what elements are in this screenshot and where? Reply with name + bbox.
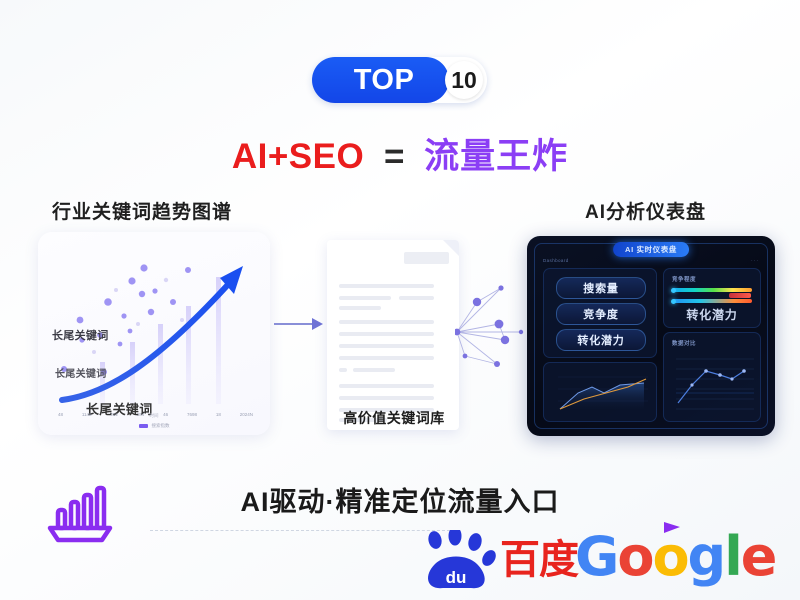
metric-pill-conversion-potential[interactable]: 转化潜力: [556, 329, 646, 351]
doc-text-line: [339, 306, 381, 310]
gauge-bar-rainbow: [672, 288, 752, 292]
footer-divider: [150, 530, 450, 531]
google-wordmark: Google: [575, 528, 775, 586]
area-panel-chart: [544, 363, 656, 421]
headline-right: 流量王炸: [424, 137, 568, 176]
baidu-wordmark: 百度: [500, 538, 578, 582]
doc-header-block: [404, 252, 449, 264]
doc-text-line: [339, 332, 434, 336]
doc-text-line: [339, 296, 391, 300]
node-network-graphic: [455, 280, 535, 385]
legend-label: 搜索指数: [152, 423, 170, 429]
footer-tagline: AI驱动·精准定位流量入口: [0, 480, 800, 519]
metric-pill-search-volume[interactable]: 搜索量: [556, 277, 646, 299]
google-letter: g: [688, 525, 725, 588]
doc-text-line: [353, 368, 395, 372]
google-letter: l: [724, 525, 741, 588]
google-letter: G: [575, 525, 617, 588]
gauge-overlay-label: 转化潜力: [664, 306, 760, 323]
headline-left: AI+SEO: [232, 137, 364, 176]
section-title-dashboard: AI分析仪表盘: [585, 197, 706, 224]
doc-text-line: [399, 296, 434, 300]
dashboard-subtitle: Dashboard: [543, 258, 569, 263]
dashboard-gauge-panel: 竞争程度 转化潜力: [663, 268, 761, 328]
badge-word: TOP: [334, 63, 434, 97]
trend-legend: 搜索指数: [38, 423, 270, 429]
keyword-label-1: 长尾关键词: [52, 327, 109, 343]
baidu-paw-icon: du: [415, 530, 505, 592]
doc-text-line: [339, 396, 434, 400]
gauge-bar-warm: [672, 299, 752, 303]
dashboard-menu-icon[interactable]: ···: [751, 258, 759, 264]
trend-x-axis-label: 时间: [38, 413, 270, 419]
legend-swatch-icon: [139, 424, 148, 428]
gauge-handle-icon[interactable]: [671, 288, 676, 293]
page-title: AI+SEO = 流量王炸: [0, 128, 800, 179]
gauge-alert-tag: [729, 293, 751, 298]
doc-text-line: [339, 320, 434, 324]
doc-text-line: [339, 356, 434, 360]
dashboard-trend-panel: 数据对比: [663, 332, 761, 422]
keyword-document-card: [327, 240, 459, 430]
keyword-trend-card: 长尾关键词 长尾关键词 长尾关键词 48 1146 202 184 46 769…: [38, 232, 270, 435]
google-letter: e: [741, 525, 776, 588]
section-title-trend: 行业关键词趋势图谱: [52, 197, 232, 224]
google-letter: o: [652, 525, 687, 588]
gauge-panel-title: 竞争程度: [672, 275, 696, 283]
keyword-label-2: 长尾关键词: [55, 365, 107, 380]
dashboard-header-pill: AI 实时仪表盘: [613, 242, 689, 257]
doc-text-line: [339, 368, 347, 372]
top-rank-badge: TOP 10: [312, 57, 487, 103]
headline-equals: =: [384, 137, 404, 176]
metric-pill-competition[interactable]: 竞争度: [556, 303, 646, 325]
trend-panel-chart: [664, 333, 760, 421]
dashboard-area-panel: [543, 362, 657, 422]
doc-text-line: [339, 284, 434, 288]
google-letter: o: [617, 525, 652, 588]
badge-number: 10: [445, 61, 483, 99]
baidu-du-text: du: [446, 568, 467, 587]
ai-dashboard-card: AI 实时仪表盘 Dashboard ··· 搜索量 竞争度 转化潜力 竞争程度…: [527, 236, 775, 436]
document-label: 高价值关键词库: [328, 408, 460, 428]
gauge-handle-icon[interactable]: [671, 299, 676, 304]
doc-text-line: [339, 384, 434, 388]
dashboard-metrics-panel: 搜索量 竞争度 转化潜力: [543, 268, 657, 358]
doc-text-line: [339, 344, 434, 348]
flow-arrow-icon: [274, 316, 324, 332]
search-engine-logos: du 百度 Google: [415, 518, 760, 586]
